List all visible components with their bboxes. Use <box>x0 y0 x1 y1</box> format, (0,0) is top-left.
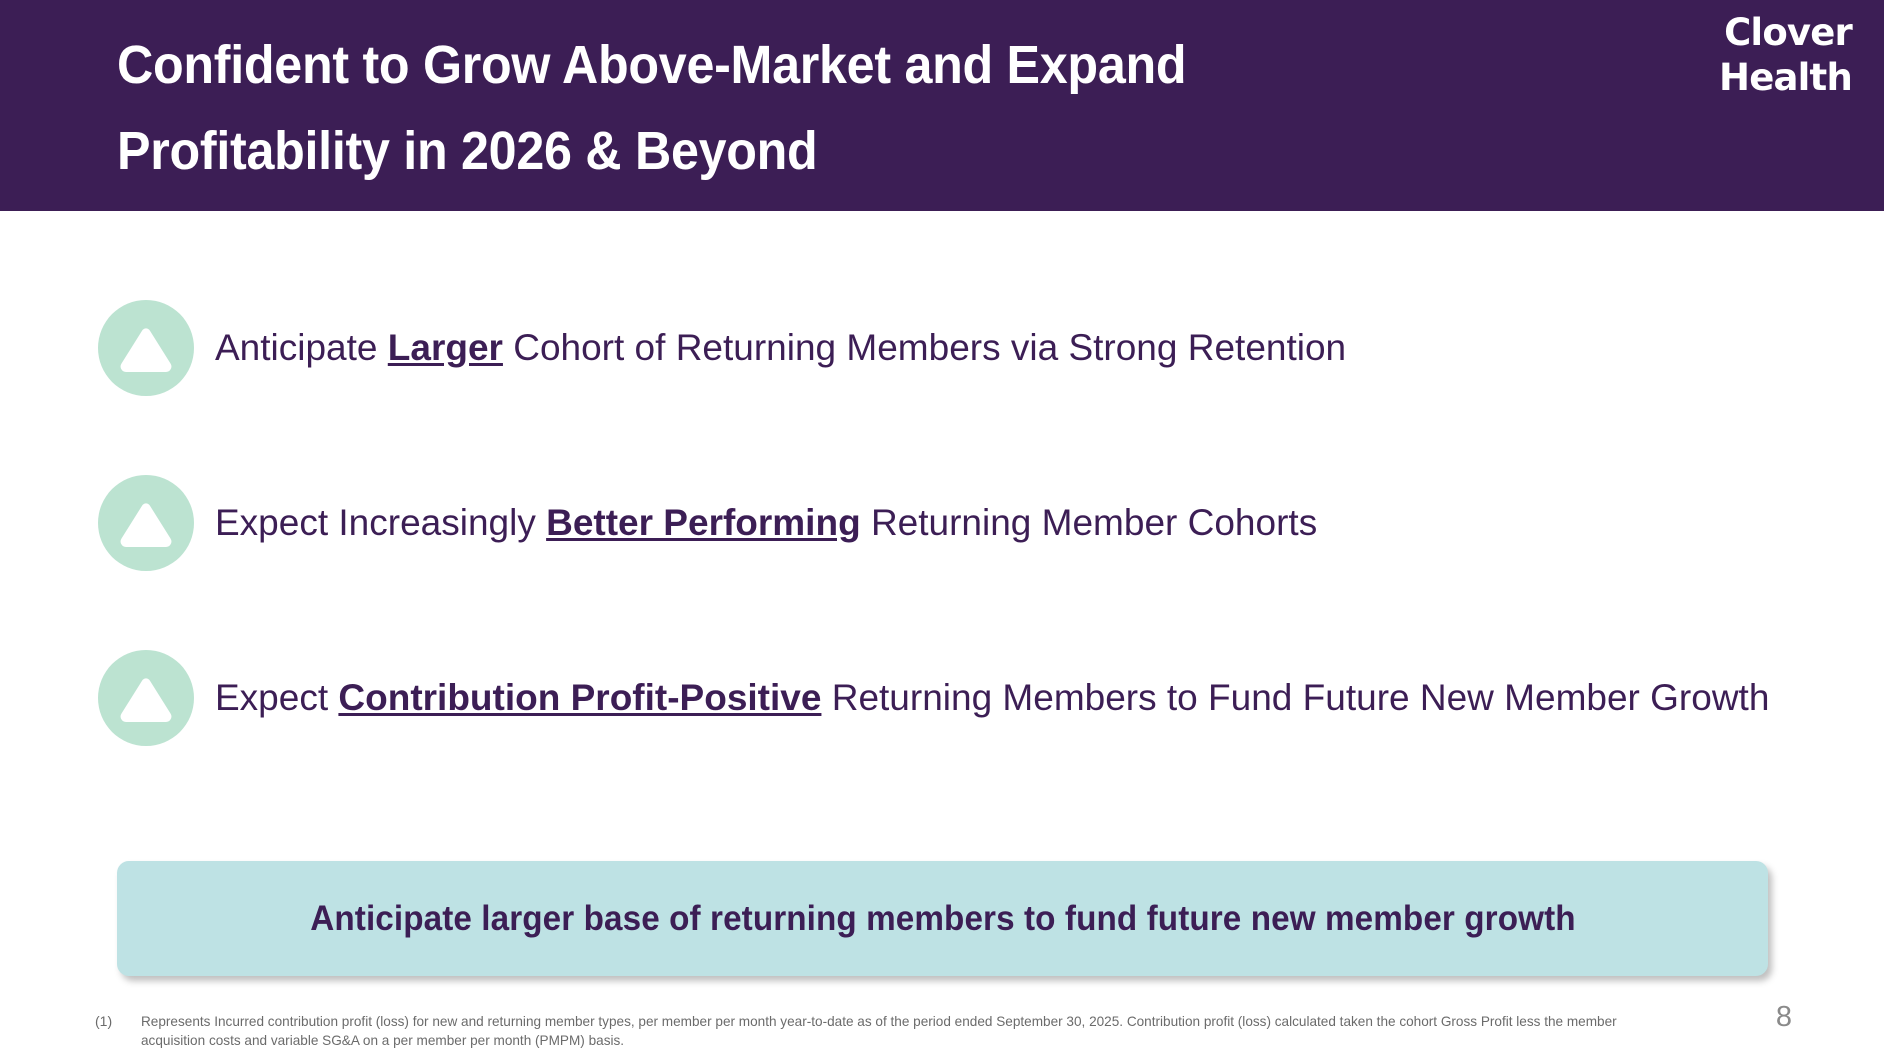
bullet-text-emphasis: Larger <box>388 327 503 368</box>
triangle-up-icon <box>98 300 194 396</box>
footnote-marker: (1) <box>95 1012 112 1031</box>
page-number: 8 <box>1776 1000 1792 1034</box>
bullet-text: Anticipate Larger Cohort of Returning Me… <box>215 326 1346 370</box>
slide: Confident to Grow Above-Market and Expan… <box>0 0 1884 1060</box>
bullet-item: Expect Contribution Profit-Positive Retu… <box>0 650 1884 746</box>
callout-banner: Anticipate larger base of returning memb… <box>117 861 1768 976</box>
clover-health-logo: Clover Health <box>1642 10 1852 100</box>
bullet-item: Anticipate Larger Cohort of Returning Me… <box>0 300 1884 396</box>
bullet-list: Anticipate Larger Cohort of Returning Me… <box>0 300 1884 825</box>
page-title-line-1: Confident to Grow Above-Market and Expan… <box>117 22 1410 108</box>
triangle-up-icon <box>98 650 194 746</box>
bullet-text-prefix: Expect <box>215 677 338 718</box>
page-title: Confident to Grow Above-Market and Expan… <box>117 22 1410 194</box>
logo-line-health: Health <box>1642 55 1852 100</box>
bullet-text-prefix: Expect Increasingly <box>215 502 546 543</box>
bullet-item: Expect Increasingly Better Performing Re… <box>0 475 1884 571</box>
callout-text: Anticipate larger base of returning memb… <box>310 898 1575 940</box>
footnote-text: Represents Incurred contribution profit … <box>141 1012 1662 1050</box>
bullet-text: Expect Increasingly Better Performing Re… <box>215 501 1317 545</box>
triangle-up-icon <box>98 475 194 571</box>
bullet-text: Expect Contribution Profit-Positive Retu… <box>215 676 1769 720</box>
bullet-text-suffix: Returning Members to Fund Future New Mem… <box>821 677 1769 718</box>
bullet-text-suffix: Cohort of Returning Members via Strong R… <box>503 327 1346 368</box>
page-title-line-2: Profitability in 2026 & Beyond <box>117 108 1410 194</box>
logo-line-clover: Clover <box>1642 10 1852 55</box>
bullet-text-emphasis: Contribution Profit-Positive <box>338 677 821 718</box>
bullet-text-prefix: Anticipate <box>215 327 388 368</box>
bullet-text-suffix: Returning Member Cohorts <box>861 502 1318 543</box>
bullet-text-emphasis: Better Performing <box>546 502 861 543</box>
